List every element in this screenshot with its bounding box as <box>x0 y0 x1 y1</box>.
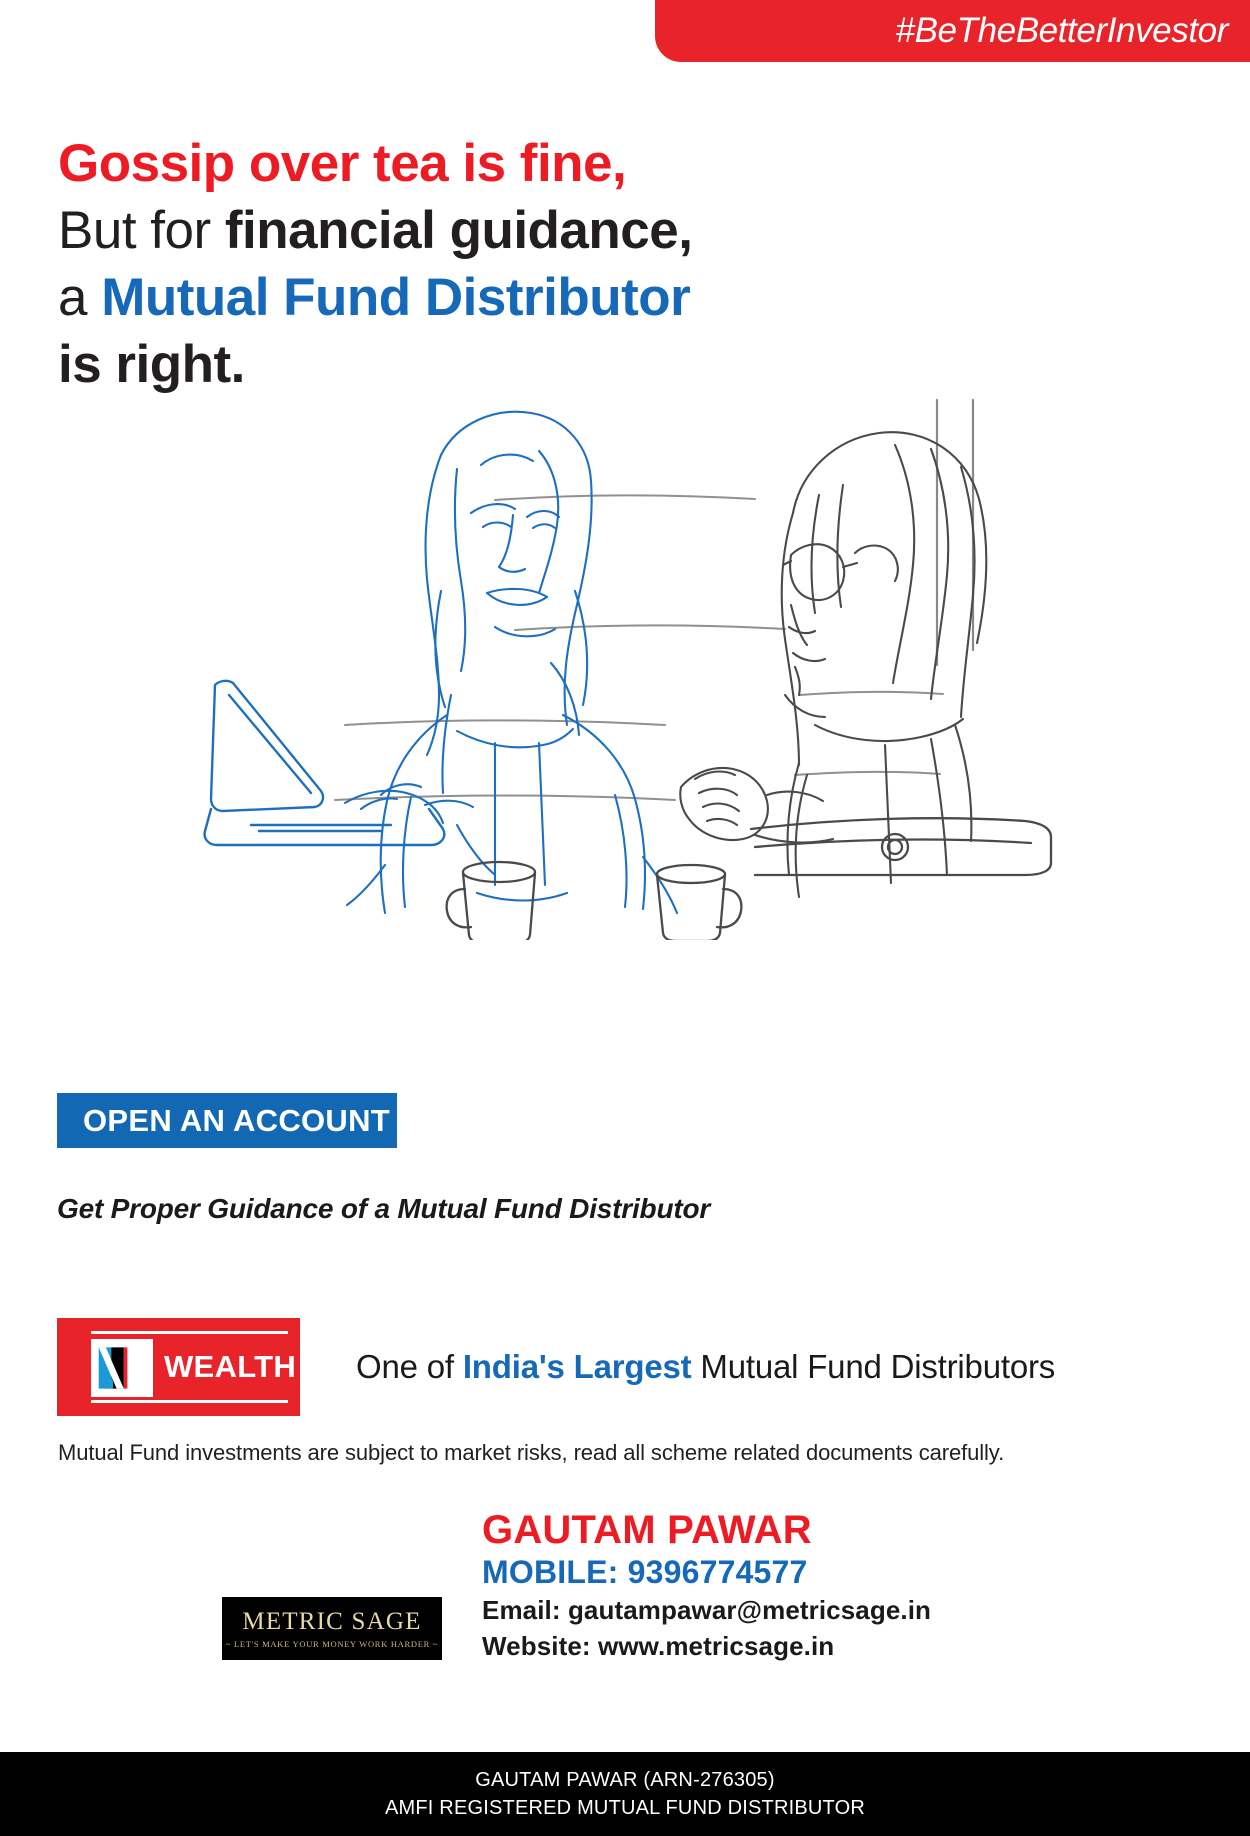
vertical-post <box>937 400 973 665</box>
metric-sage-logo: METRIC SAGE ~ LET'S MAKE YOUR MONEY WORK… <box>222 1597 442 1660</box>
nj-tagline: One of India's Largest Mutual Fund Distr… <box>356 1348 1055 1386</box>
risk-disclaimer: Mutual Fund investments are subject to m… <box>58 1440 1004 1466</box>
headline-segment-blue-3: Mutual Fund Distributor <box>101 268 690 327</box>
footer-bar: GAUTAM PAWAR (ARN-276305) AMFI REGISTERE… <box>0 1752 1250 1836</box>
headline-segment-bold-2: financial guidance, <box>225 201 693 260</box>
nj-tagline-prefix: One of <box>356 1348 463 1385</box>
nj-monogram-icon <box>91 1339 153 1397</box>
open-an-account-button[interactable]: OPEN AN ACCOUNT <box>57 1093 397 1148</box>
nj-wealth-logo: WEALTH <box>57 1318 300 1416</box>
hashtag-text: #BeTheBetterInvestor <box>896 11 1228 51</box>
headline-line-3: a Mutual Fund Distributor <box>58 264 838 331</box>
headline-segment-light-2: But for <box>58 201 225 260</box>
coffee-mug-right <box>657 865 741 940</box>
footer-line-2: AMFI REGISTERED MUTUAL FUND DISTRIBUTOR <box>385 1794 865 1822</box>
cta-subtitle: Get Proper Guidance of a Mutual Fund Dis… <box>57 1193 710 1225</box>
nj-logo-rule-top <box>91 1331 288 1334</box>
contact-name: GAUTAM PAWAR <box>482 1508 1102 1552</box>
open-an-account-label: OPEN AN ACCOUNT <box>83 1103 390 1139</box>
footer-line-1: GAUTAM PAWAR (ARN-276305) <box>475 1766 775 1794</box>
nj-tagline-accent: India's Largest <box>463 1348 692 1385</box>
metric-sage-tagline: ~ LET'S MAKE YOUR MONEY WORK HARDER ~ <box>226 1640 438 1649</box>
contact-email[interactable]: Email: gautampawar@metricsage.in <box>482 1592 1102 1628</box>
woman-with-glasses <box>782 432 987 897</box>
headline-segment-red: Gossip over tea is fine, <box>58 134 626 193</box>
laptop <box>205 681 445 845</box>
hashtag-banner: #BeTheBetterInvestor <box>655 0 1250 62</box>
page-title: Gossip over tea is fine, But for financi… <box>58 130 838 398</box>
headline-line-2: But for financial guidance, <box>58 197 838 264</box>
poster-canvas: #BeTheBetterInvestor Gossip over tea is … <box>0 0 1250 1836</box>
metric-sage-name: METRIC SAGE <box>242 1609 421 1634</box>
contact-block: GAUTAM PAWAR MOBILE: 9396774577 Email: g… <box>482 1508 1102 1664</box>
clasped-hands <box>680 768 833 843</box>
contact-website[interactable]: Website: www.metricsage.in <box>482 1628 1102 1664</box>
nj-wealth-row: WEALTH One of India's Largest Mutual Fun… <box>57 1318 1055 1416</box>
headline-line-4: is right. <box>58 331 838 398</box>
contact-mobile[interactable]: MOBILE: 9396774577 <box>482 1552 1102 1592</box>
nj-wealth-wordmark: WEALTH <box>164 1349 296 1385</box>
headline-segment-bold-4: is right. <box>58 335 245 394</box>
consultation-illustration <box>195 395 1055 940</box>
woman-with-laptop <box>347 412 677 913</box>
nj-tagline-suffix: Mutual Fund Distributors <box>691 1348 1055 1385</box>
headline-segment-light-3: a <box>58 268 101 327</box>
headline-line-1: Gossip over tea is fine, <box>58 130 838 197</box>
nj-logo-rule-bottom <box>91 1400 288 1403</box>
